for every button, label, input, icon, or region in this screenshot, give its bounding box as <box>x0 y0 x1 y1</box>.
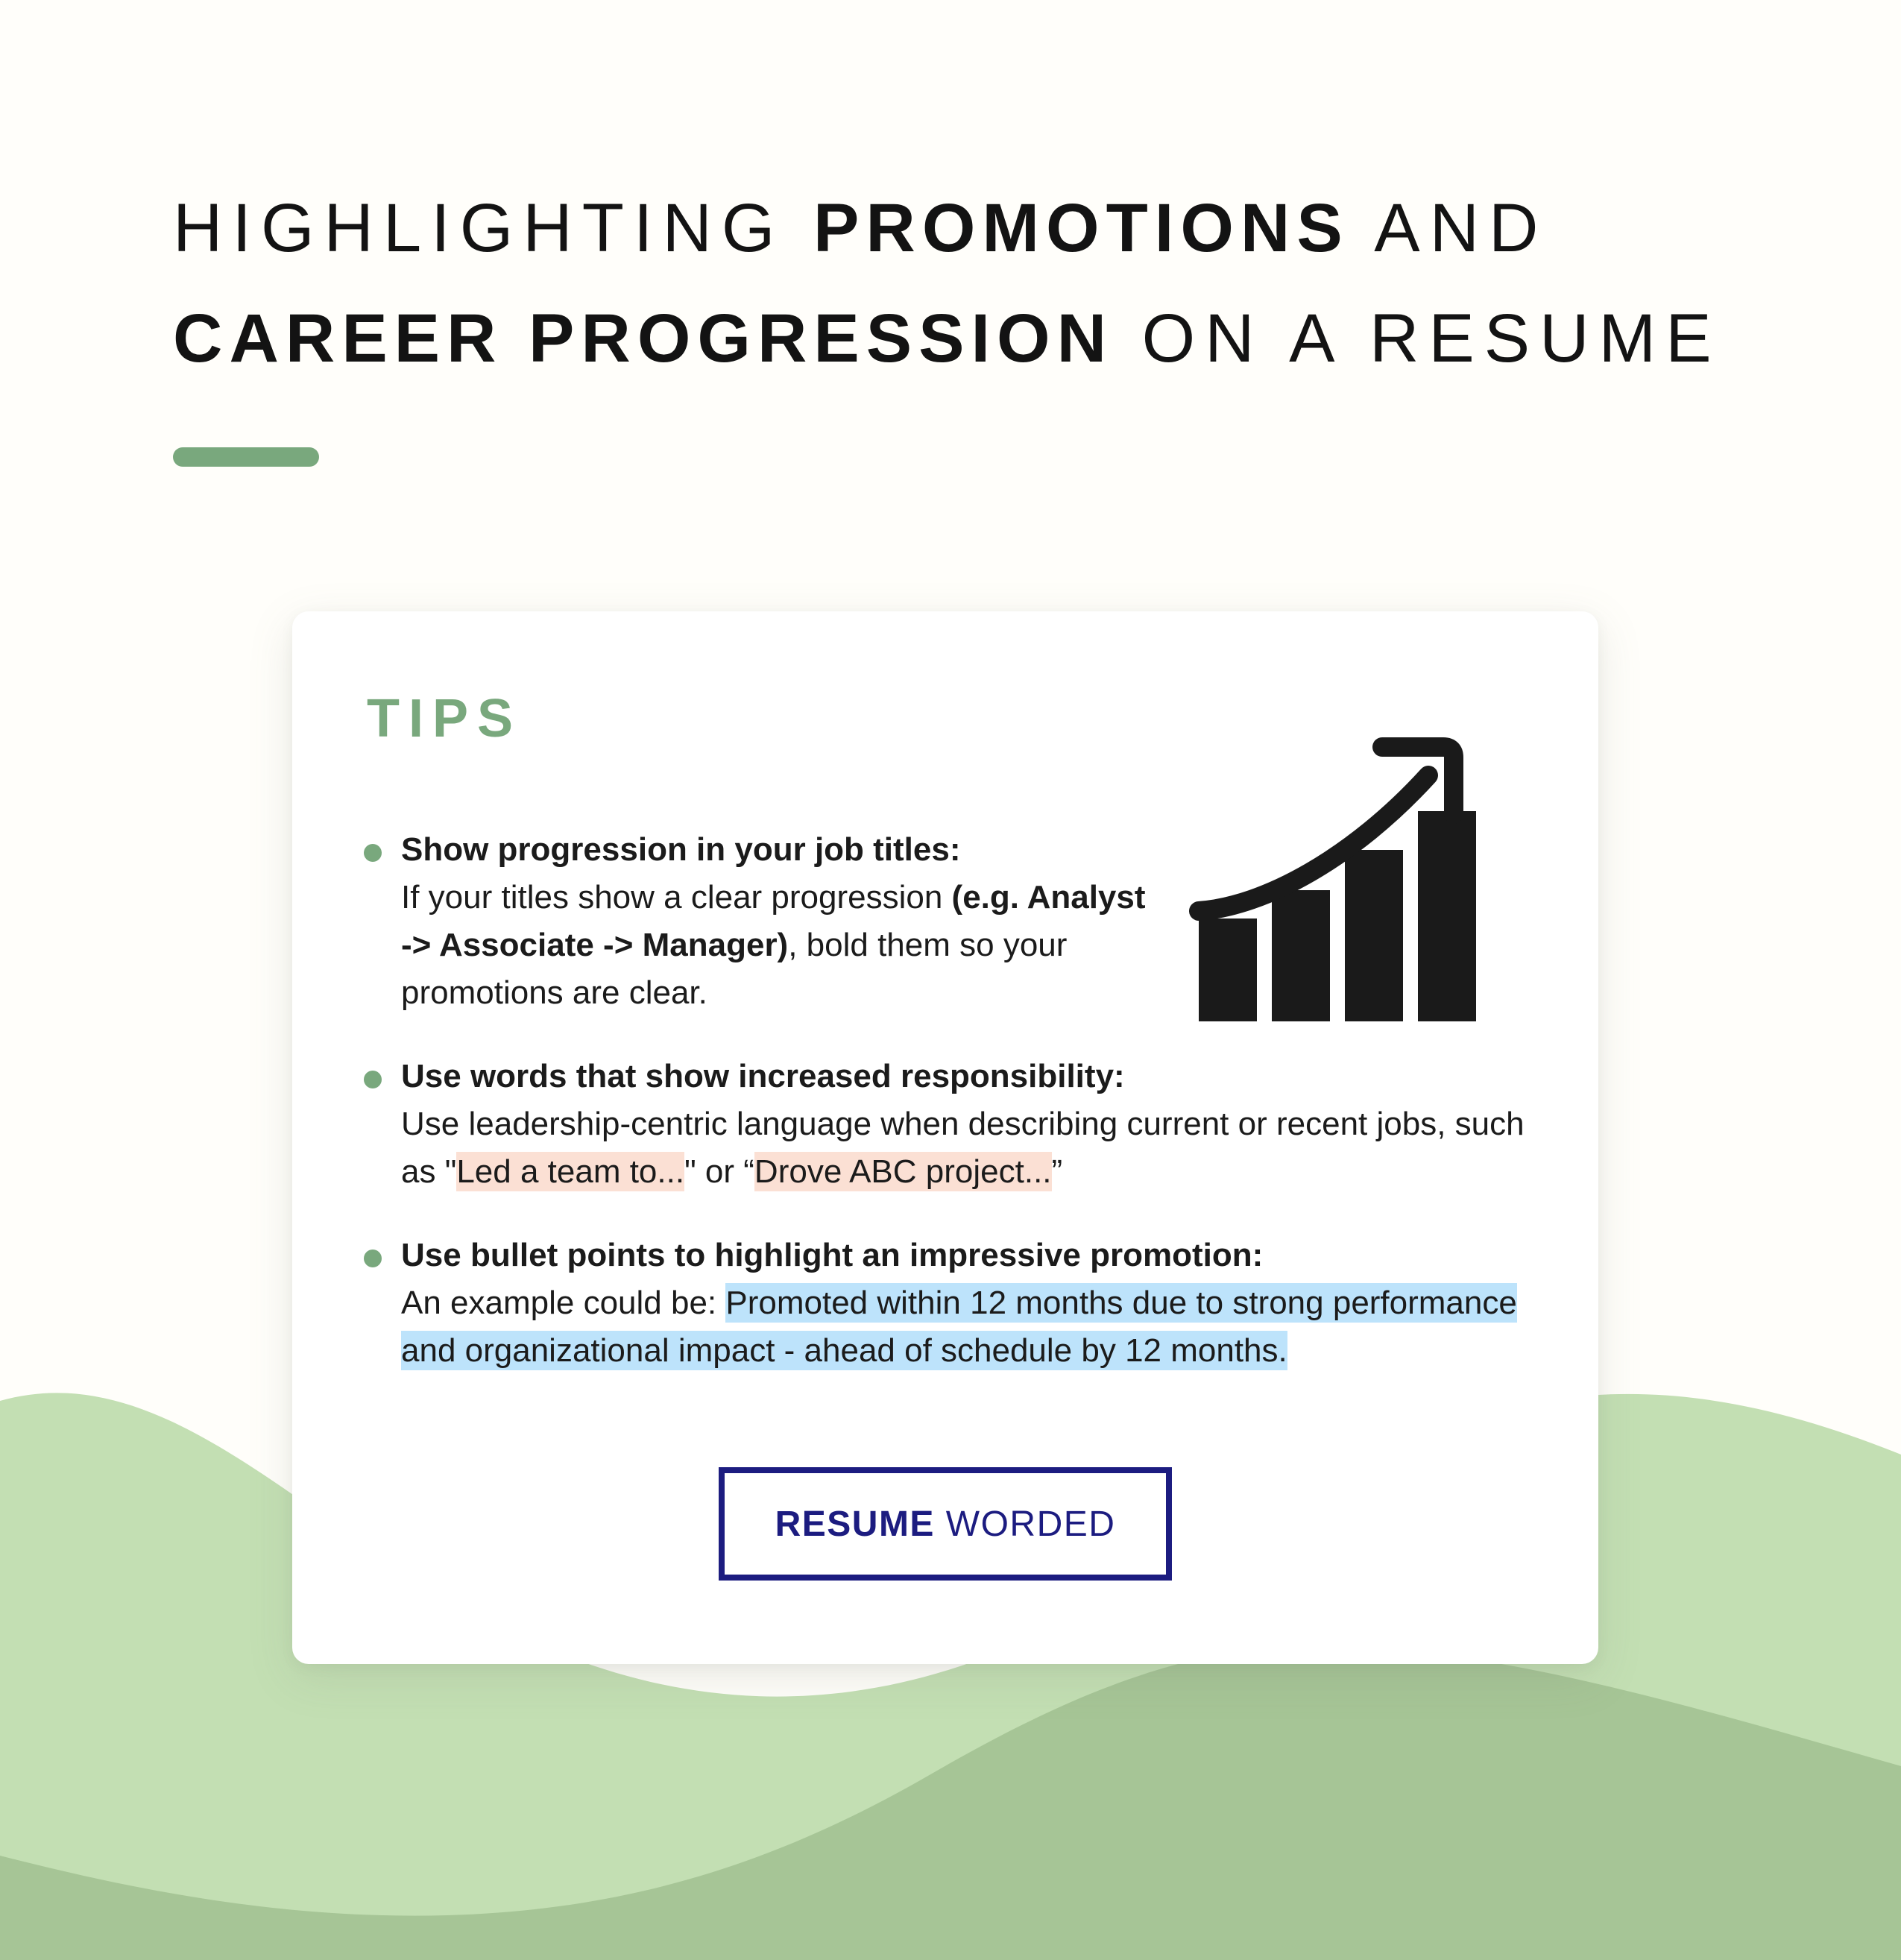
tip-2-body-2: " or “ <box>684 1153 754 1190</box>
title-line1-bold: PROMOTIONS <box>813 190 1349 266</box>
title-line-2: CAREER PROGRESSION ON A RESUME <box>173 283 1738 394</box>
tip-2-lead: Use words that show increased responsibi… <box>401 1058 1125 1094</box>
tip-1-body-1: If your titles show a clear progression <box>401 879 952 916</box>
tip-item-2: Use words that show increased responsibi… <box>358 1053 1551 1196</box>
tip-3-lead: Use bullet points to highlight an impres… <box>401 1237 1263 1273</box>
bullet-dot-icon <box>364 844 382 862</box>
tip-2-body-3: ” <box>1052 1153 1063 1190</box>
title-line-1: HIGHLIGHTING PROMOTIONS AND <box>173 173 1738 283</box>
title-line2-bold: CAREER PROGRESSION <box>173 300 1113 376</box>
infographic-page: HIGHLIGHTING PROMOTIONS AND CAREER PROGR… <box>0 0 1901 1960</box>
tip-2-highlight-1: Led a team to... <box>456 1152 684 1191</box>
tip-item-1: Show progression in your job titles:If y… <box>358 826 1551 1017</box>
resume-worded-logo-button[interactable]: RESUME WORDED <box>719 1467 1172 1581</box>
tip-3-text: Use bullet points to highlight an impres… <box>401 1232 1551 1375</box>
tip-1-text: Show progression in your job titles:If y… <box>401 826 1161 1017</box>
tips-list: Show progression in your job titles:If y… <box>358 826 1551 1375</box>
title-accent-bar <box>173 447 319 467</box>
tips-card: TIPS Show progression in your job titles… <box>292 611 1598 1664</box>
bullet-dot-icon <box>364 1071 382 1088</box>
title-line1-light-1: HIGHLIGHTING <box>173 190 813 266</box>
page-title: HIGHLIGHTING PROMOTIONS AND CAREER PROGR… <box>173 173 1738 394</box>
logo-regular-word: WORDED <box>935 1504 1115 1544</box>
wave-dark-shape <box>0 1645 1901 1960</box>
tip-1-lead: Show progression in your job titles: <box>401 831 961 868</box>
logo-bold-word: RESUME <box>775 1504 935 1544</box>
title-line2-light: ON A RESUME <box>1113 300 1721 376</box>
bullet-dot-icon <box>364 1250 382 1267</box>
logo-text: RESUME WORDED <box>775 1504 1116 1545</box>
tip-2-highlight-2: Drove ABC project... <box>754 1152 1052 1191</box>
tip-2-text: Use words that show increased responsibi… <box>401 1053 1527 1196</box>
tips-heading: TIPS <box>367 692 522 746</box>
tip-3-body-1: An example could be: <box>401 1285 725 1321</box>
tip-item-3: Use bullet points to highlight an impres… <box>358 1232 1551 1375</box>
title-line1-light-2: AND <box>1349 190 1548 266</box>
